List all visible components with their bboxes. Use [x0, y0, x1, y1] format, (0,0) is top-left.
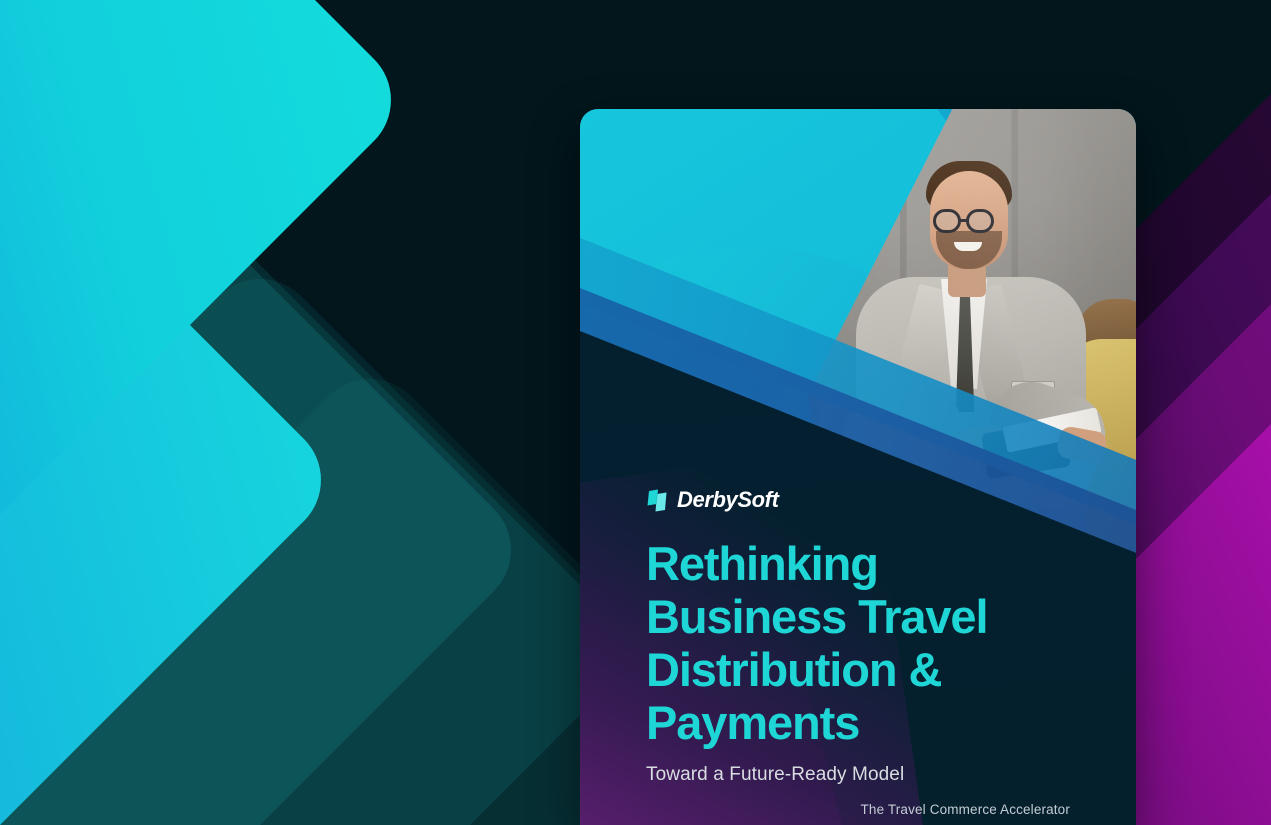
derbysoft-logo-mark	[646, 488, 668, 513]
derbysoft-logo[interactable]: DerbySoft	[646, 487, 779, 513]
background-chevron-ghost-1	[0, 55, 535, 825]
cover-subhead: Toward a Future-Ready Model	[646, 764, 904, 786]
background-chevron-ghost-2	[0, 155, 645, 825]
cover-headline: Rethinking Business Travel Distribution …	[646, 537, 1066, 749]
background-chevron-secondary	[0, 0, 345, 825]
cover-tagline: The Travel Commerce Accelerator	[861, 802, 1070, 817]
page-root: PDF DerbySoft Rethinking Business Travel…	[0, 0, 1271, 825]
whitepaper-cover-card[interactable]: PDF DerbySoft Rethinking Business Travel…	[580, 109, 1136, 825]
background-chevron-primary	[0, 0, 415, 595]
derbysoft-logo-text: DerbySoft	[677, 487, 779, 513]
